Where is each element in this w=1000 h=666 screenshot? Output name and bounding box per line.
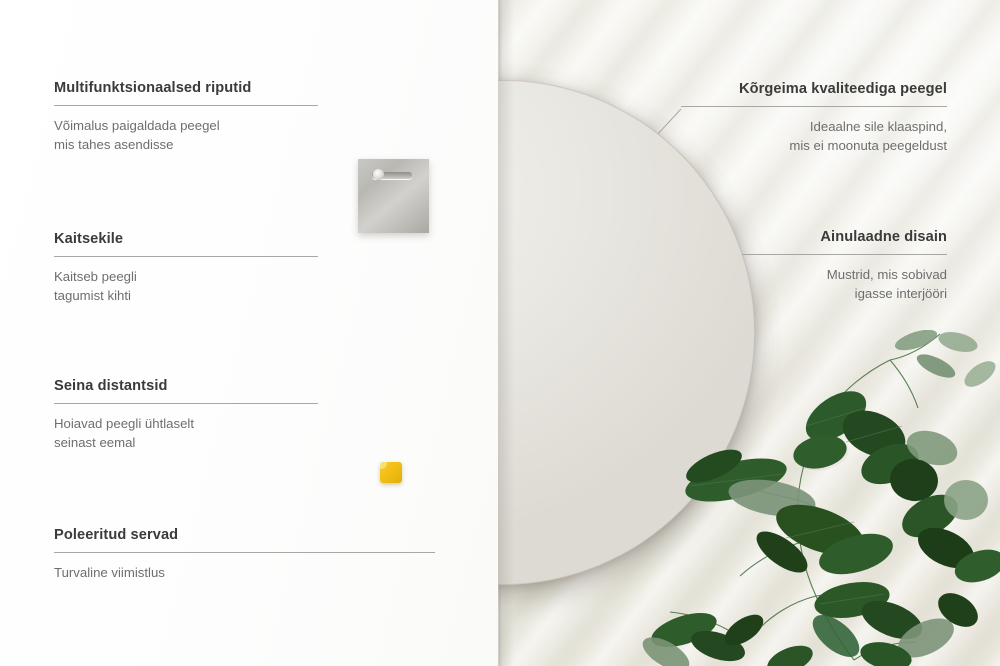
callout-title: Kaitsekile [54, 231, 318, 247]
hanger-plate [358, 159, 429, 233]
wall-spacer [380, 462, 402, 483]
callout-title: Poleeritud servad [54, 527, 435, 543]
callout-body: Kaitseb peegli tagumist kihti [54, 268, 318, 305]
callout-seina-distantsid: Seina distantsid Hoiavad peegli ühtlasel… [54, 378, 318, 452]
infographic-canvas: Multifunktsionaalsed riputid Võimalus pa… [0, 0, 1000, 666]
callout-rule [681, 106, 947, 107]
callout-body: Hoiavad peegli ühtlaselt seinast eemal [54, 415, 318, 452]
callout-title: Seina distantsid [54, 378, 318, 394]
callout-poleeritud-servad: Poleeritud servad Turvaline viimistlus [54, 527, 435, 583]
hanger-keyhole-slot [372, 172, 412, 179]
foliage-decoration [640, 330, 1000, 666]
callout-body: Turvaline viimistlus [54, 564, 435, 583]
callout-rule [54, 403, 318, 404]
callout-rule [54, 552, 435, 553]
callout-title: Kõrgeima kvaliteediga peegel [681, 81, 947, 97]
callout-title: Ainulaadne disain [742, 229, 947, 245]
callout-rule [742, 254, 947, 255]
callout-ainulaadne-disain: Ainulaadne disain Mustrid, mis sobivad i… [742, 229, 947, 303]
callout-rule [54, 105, 318, 106]
callout-body: Ideaalne sile klaaspind, mis ei moonuta … [681, 118, 947, 155]
callout-body: Mustrid, mis sobivad igasse interjööri [742, 266, 947, 303]
callout-rule [54, 256, 318, 257]
cutaway-edge-shadow [498, 0, 514, 666]
callout-title: Multifunktsionaalsed riputid [54, 80, 318, 96]
callout-korgeima-kvaliteediga-peegel: Kõrgeima kvaliteediga peegel Ideaalne si… [681, 81, 947, 155]
callout-multifunktsionaalsed-riputid: Multifunktsionaalsed riputid Võimalus pa… [54, 80, 318, 154]
callout-kaitsekile: Kaitsekile Kaitseb peegli tagumist kihti [54, 231, 318, 305]
callout-body: Võimalus paigaldada peegel mis tahes ase… [54, 117, 318, 154]
